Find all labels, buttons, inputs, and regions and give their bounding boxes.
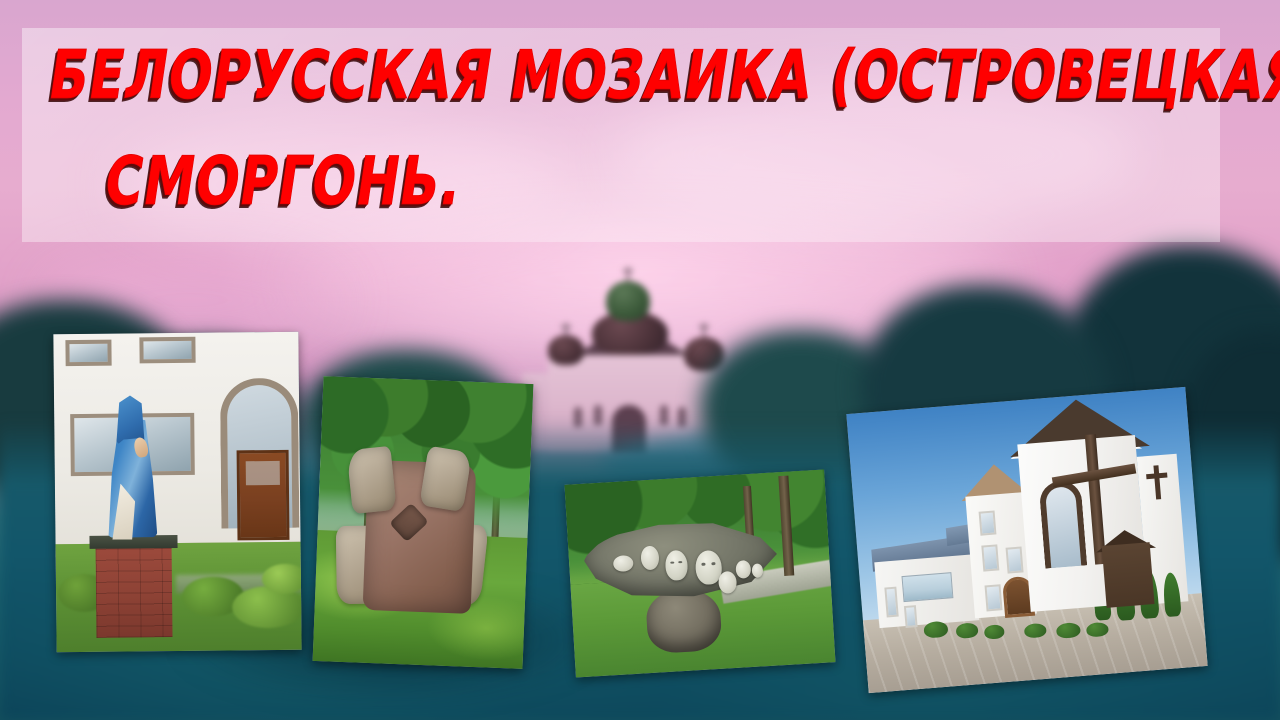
virgin-mary-statue-photo[interactable] bbox=[53, 332, 301, 653]
photo-content bbox=[846, 387, 1207, 693]
church-cross-icon bbox=[627, 267, 629, 281]
arched-window bbox=[1038, 480, 1087, 569]
building-window bbox=[904, 605, 918, 628]
video-frame: БЕЛОРУССКАЯ МОЗАИКА (ОСТРОВЕЦКАЯ КРУГОСВ… bbox=[0, 0, 1280, 720]
stone-faces-sculpture-photo[interactable] bbox=[565, 469, 836, 677]
church-cross-icon bbox=[703, 323, 705, 337]
main-entrance-porch bbox=[1102, 542, 1155, 608]
title-banner: БЕЛОРУССКАЯ МОЗАИКА (ОСТРОВЕЦКАЯ КРУГОСВ… bbox=[22, 28, 1220, 242]
church-dome-main-green bbox=[606, 281, 650, 321]
building-window bbox=[139, 337, 195, 364]
church-dome-right bbox=[684, 337, 724, 371]
bush bbox=[262, 564, 302, 594]
photo-content bbox=[313, 376, 534, 669]
church-cross-icon bbox=[565, 323, 567, 337]
brick-pedestal bbox=[96, 545, 173, 638]
building-window bbox=[884, 587, 898, 618]
building-window bbox=[979, 511, 997, 536]
building-window bbox=[1006, 546, 1024, 573]
granite-block-sculpture-photo[interactable] bbox=[313, 376, 534, 669]
wall-mural bbox=[901, 572, 953, 602]
building-door bbox=[237, 450, 290, 541]
title-line-2: СМОРГОНЬ. bbox=[106, 136, 1131, 226]
church-dome-left bbox=[548, 335, 584, 365]
white-catholic-church-photo[interactable] bbox=[846, 387, 1207, 693]
photo-content bbox=[53, 332, 301, 653]
building-window bbox=[985, 584, 1003, 611]
photo-content bbox=[565, 469, 836, 677]
sculpture-base-stone bbox=[645, 588, 723, 654]
granite-slab bbox=[346, 446, 396, 514]
building-window bbox=[65, 340, 111, 366]
building-window bbox=[981, 544, 999, 571]
title-line-1: БЕЛОРУССКАЯ МОЗАИКА (ОСТРОВЕЦКАЯ КРУГОСВ… bbox=[50, 30, 1127, 120]
